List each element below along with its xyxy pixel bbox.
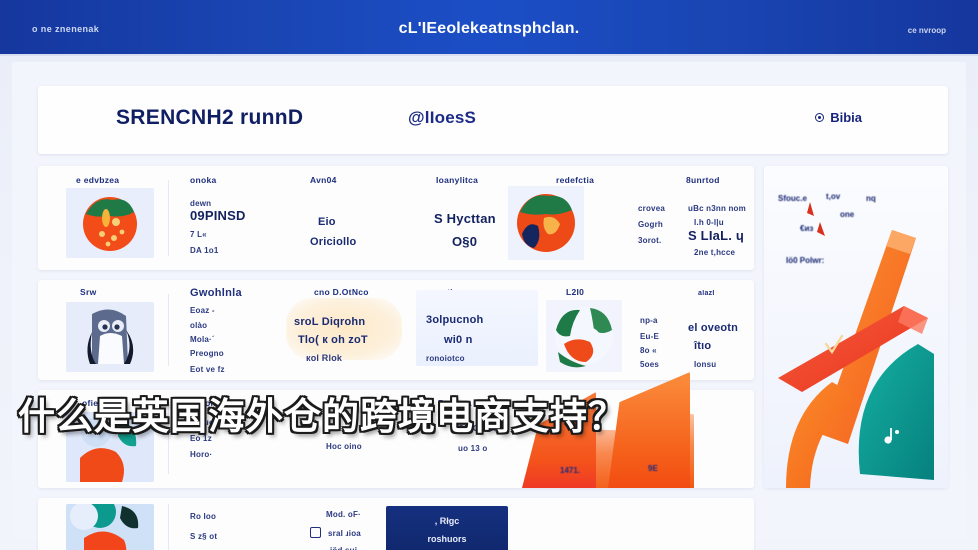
- cell-text: sroL Diqrohn: [294, 316, 365, 328]
- cell-text: Mod. oF·: [326, 510, 361, 519]
- column-header: Srw: [80, 287, 97, 297]
- page-subtitle: @lIoesS: [408, 108, 476, 128]
- cell-text: Eu-Е: [640, 332, 659, 341]
- column-header: cno D.OtNco: [314, 287, 369, 297]
- page-title: SRENCNH2 runnD: [116, 106, 303, 130]
- cell-text: кol Rlok: [306, 353, 342, 363]
- page-canvas: SRENCNH2 runnD @lIoesS Bibia: [12, 62, 966, 540]
- cell-text: Hoc oino: [326, 442, 362, 451]
- cell-text: Eio: [318, 216, 336, 228]
- table-row[interactable]: Ro Ioo S z§ ot Mod. oF· sraI ɹioa iöd su…: [38, 498, 754, 550]
- row-divider: [168, 294, 169, 366]
- title-action-button[interactable]: Bibia: [815, 110, 862, 125]
- chart-panel: Sfouc.e t,ov nq one €из Iö0 Polwr:: [764, 166, 948, 488]
- chart-svg: [764, 166, 948, 488]
- row-thumbnail: [66, 504, 154, 550]
- column-header: Avn04: [310, 175, 337, 185]
- cell-text: Eot ve fz: [190, 365, 225, 374]
- row-thumbnail: [66, 302, 154, 372]
- cell-text: uBc n3nn nom: [688, 204, 746, 213]
- cell-text: 09PINSD: [190, 208, 246, 223]
- column-header: Gwohlnla: [190, 287, 242, 299]
- app-root: o ne znenenak cL'IEeolekeatnsphclan. ce …: [0, 0, 978, 550]
- app-header: o ne znenenak cL'IEeolekeatnsphclan. ce …: [0, 0, 978, 56]
- row-divider: [168, 180, 169, 256]
- cell-text: S z§ ot: [190, 532, 217, 541]
- column-header: e edvbzea: [76, 175, 119, 185]
- cell-text: 8o «: [640, 346, 657, 355]
- row-thumbnail: [66, 188, 154, 258]
- cell-text: olào: [190, 321, 207, 330]
- cell-text: Eoaz -: [190, 306, 215, 315]
- cell-text: 7 L«: [190, 230, 207, 239]
- cell-text: Mola·´: [190, 335, 215, 344]
- row-illustration: [508, 186, 584, 260]
- chart-annotation: Iö0 Polwr:: [786, 256, 824, 265]
- cell-text: Horo·: [190, 450, 212, 459]
- bar-value-label: 1471.: [560, 466, 580, 475]
- column-header: redefctia: [556, 175, 594, 185]
- cell-text: S Hycttan: [434, 211, 496, 226]
- header-right-label: ce nvroop: [908, 26, 946, 35]
- column-header: onoka: [190, 175, 217, 185]
- cell-text: uo 13 o: [458, 444, 487, 453]
- cell-text: O§0: [452, 234, 477, 249]
- cell-text: Tlo( к oh zoT: [298, 334, 368, 346]
- chart-annotation: one: [840, 210, 854, 219]
- row-divider: [168, 504, 169, 550]
- table-row[interactable]: e edvbzea onoka Avn04 Ioanylitca redefct…: [38, 166, 754, 270]
- cell-text: DA 1o1: [190, 246, 218, 255]
- chart-annotation: nq: [866, 194, 876, 203]
- cell-text: dewn: [190, 199, 211, 208]
- overlay-headline: 什么是英国海外仓的跨境电商支持？: [18, 398, 626, 435]
- cell-text: crovea: [638, 204, 665, 213]
- header-title: cL'IEeolekeatnsphclan.: [0, 20, 978, 38]
- table-row[interactable]: Srw Gwohlnla cno D.OtNco atie L2I0 alazI…: [38, 280, 754, 380]
- cell-text: 2ne t,hcce: [694, 248, 735, 257]
- title-card: SRENCNH2 runnD @lIoesS Bibia: [38, 86, 948, 154]
- column-header: alazI: [698, 290, 715, 297]
- highlight-pill: [286, 298, 402, 360]
- chart-annotation: t,ov: [826, 192, 840, 201]
- cell-text: I.h 0-l|u: [694, 218, 724, 227]
- navy-highlight-box: , Rłgc roshuors: [386, 506, 508, 550]
- navy-box-line2: roshuors: [386, 534, 508, 544]
- navy-box-line1: , Rłgc: [386, 516, 508, 526]
- cell-text: 3olpucnoh: [426, 314, 483, 326]
- cell-text: S LIaL. ɥ: [688, 228, 744, 243]
- cell-text: Oriciollo: [310, 236, 356, 248]
- chart-annotation: €из: [800, 224, 813, 233]
- cell-text: 5oes: [640, 360, 659, 369]
- title-action-label: Bibia: [830, 110, 862, 125]
- copy-icon[interactable]: [310, 527, 321, 538]
- cell-text: Gogrh: [638, 220, 663, 229]
- cell-text: Preogno: [190, 349, 224, 358]
- cell-text: Ro Ioo: [190, 512, 216, 521]
- column-header: Ioanylitca: [436, 175, 478, 185]
- cell-text: wi0 n: [444, 334, 473, 346]
- bar-value-label: 9Е: [648, 464, 658, 473]
- cell-text: Ionsu: [694, 360, 716, 369]
- cell-text: iöd sui: [330, 546, 357, 550]
- target-dot-icon: [815, 113, 824, 122]
- row-illustration: [546, 300, 622, 372]
- cell-text: îtιo: [694, 340, 711, 352]
- cell-text: np-a: [640, 316, 658, 325]
- cell-text: sraI ɹioa: [328, 529, 361, 538]
- cell-text: 3orot.: [638, 236, 661, 245]
- column-header: 8unrtod: [686, 175, 720, 185]
- cell-text: ronoiotсо: [426, 354, 465, 363]
- chart-annotation: Sfouc.e: [778, 194, 807, 203]
- column-header: L2I0: [566, 287, 584, 297]
- cell-text: el oveotn: [688, 322, 738, 334]
